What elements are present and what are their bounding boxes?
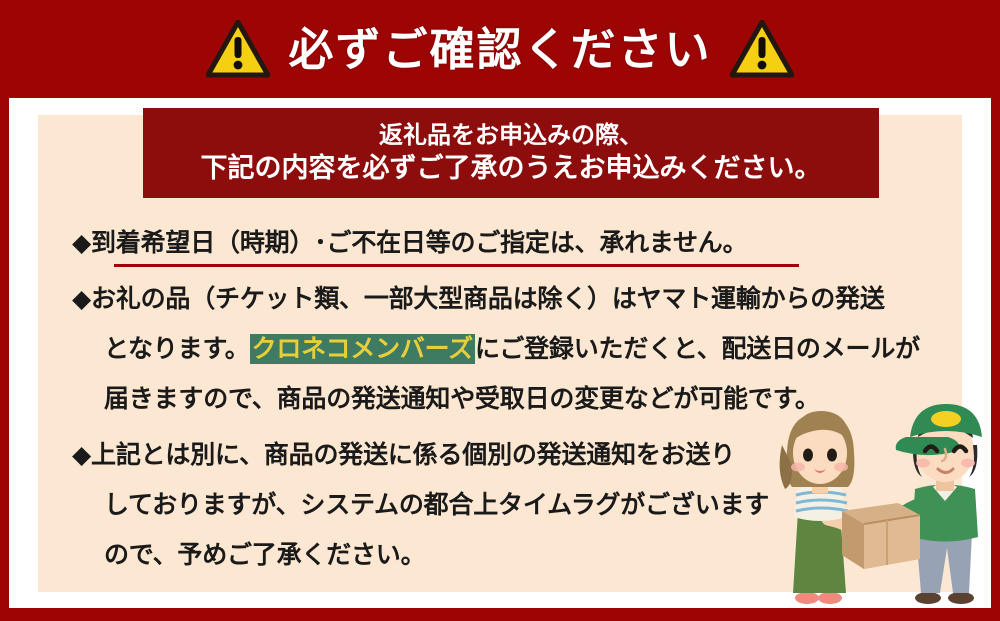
warning-triangle-icon <box>206 20 270 78</box>
delivery-handoff-illustration <box>770 393 1000 608</box>
subheader-line-2: 下記の内容を必ずご了承のうえお申込みください。 <box>201 152 822 185</box>
list-item: ◆到着希望日（時期）･ご不在日等のご指定は、承れません。 <box>72 218 932 268</box>
page-title: 必ずご確認ください <box>288 27 711 72</box>
delivery-illustration-svg <box>770 393 1000 608</box>
notice-text-prefix: となります。 <box>104 335 250 363</box>
notice-text-suffix: にご登録いただくと、配送日のメールが <box>475 335 920 363</box>
notice-line: となります。クロネコメンバーズにご登録いただくと、配送日のメールが <box>72 324 932 374</box>
footer-band <box>0 608 1000 621</box>
kuroneko-members-highlight: クロネコメンバーズ <box>250 334 475 364</box>
woman-figure <box>780 411 866 604</box>
notice-line: ◆到着希望日（時期）･ご不在日等のご指定は、承れません。 <box>72 218 932 268</box>
notice-line: ◆お礼の品（チケット類、一部大型商品は除く）はヤマト運輸からの発送 <box>72 274 932 324</box>
subheader-block: 返礼品をお申込みの際、 下記の内容を必ずご了承のうえお申込みください。 <box>143 108 879 198</box>
emphasis-underline <box>114 264 799 267</box>
warning-triangle-icon <box>730 20 794 78</box>
subheader-line-1: 返礼品をお申込みの際、 <box>379 121 643 150</box>
header-band: 必ずご確認ください <box>0 0 1000 98</box>
notice-banner: 必ずご確認ください 返礼品をお申込みの際、 下記の内容を必ずご了承のうえお申込み… <box>0 0 1000 621</box>
cardboard-box-icon <box>842 503 920 569</box>
